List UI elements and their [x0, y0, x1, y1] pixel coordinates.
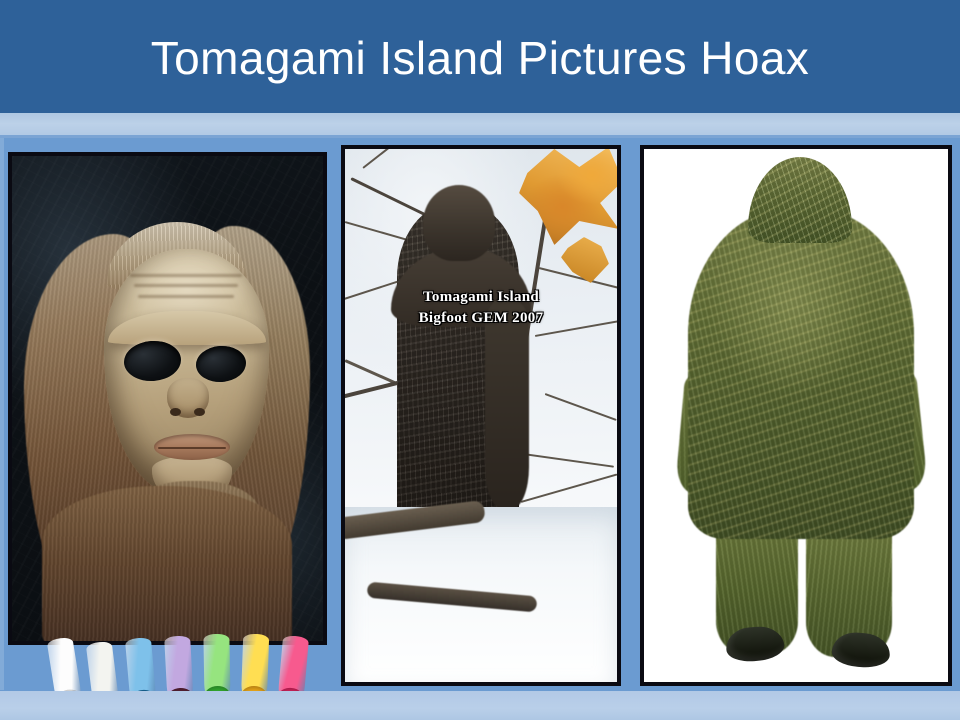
caption-line-2: Bigfoot GEM 2007 [345, 308, 617, 329]
ghillie-photo-inner [644, 149, 948, 682]
mask-nostril-right [194, 408, 205, 416]
snowy-forest-bigfoot-photo[interactable]: Tomagami Island Bigfoot GEM 2007 [341, 145, 621, 686]
slide-canvas: Tomagami Island Pictures Hoax [0, 0, 960, 720]
mask-brow-wrinkle [130, 274, 242, 277]
mask-photo-inner [12, 156, 323, 641]
left-edge-accent [0, 138, 4, 690]
forest-photo-inner: Tomagami Island Bigfoot GEM 2007 [345, 149, 617, 682]
footer-band [0, 691, 960, 720]
photo-watermark-caption: Tomagami Island Bigfoot GEM 2007 [345, 287, 617, 329]
caption-line-1: Tomagami Island [345, 287, 617, 308]
mask-hair-bottom [42, 486, 292, 641]
bigfoot-figure-head [423, 185, 495, 261]
mask-brow-wrinkle [134, 284, 238, 287]
ghillie-suit-photo[interactable] [640, 145, 952, 686]
header-divider-edge [0, 135, 960, 138]
header-divider-light [0, 113, 960, 137]
ghillie-torso [688, 209, 914, 539]
page-title: Tomagami Island Pictures Hoax [0, 31, 960, 85]
bigfoot-mask-photo[interactable] [8, 152, 327, 645]
mask-nostril-left [170, 408, 181, 416]
mask-brow-wrinkle [138, 295, 234, 298]
mask-mouth-line [158, 447, 226, 449]
bigfoot-figure-arm [485, 299, 529, 509]
